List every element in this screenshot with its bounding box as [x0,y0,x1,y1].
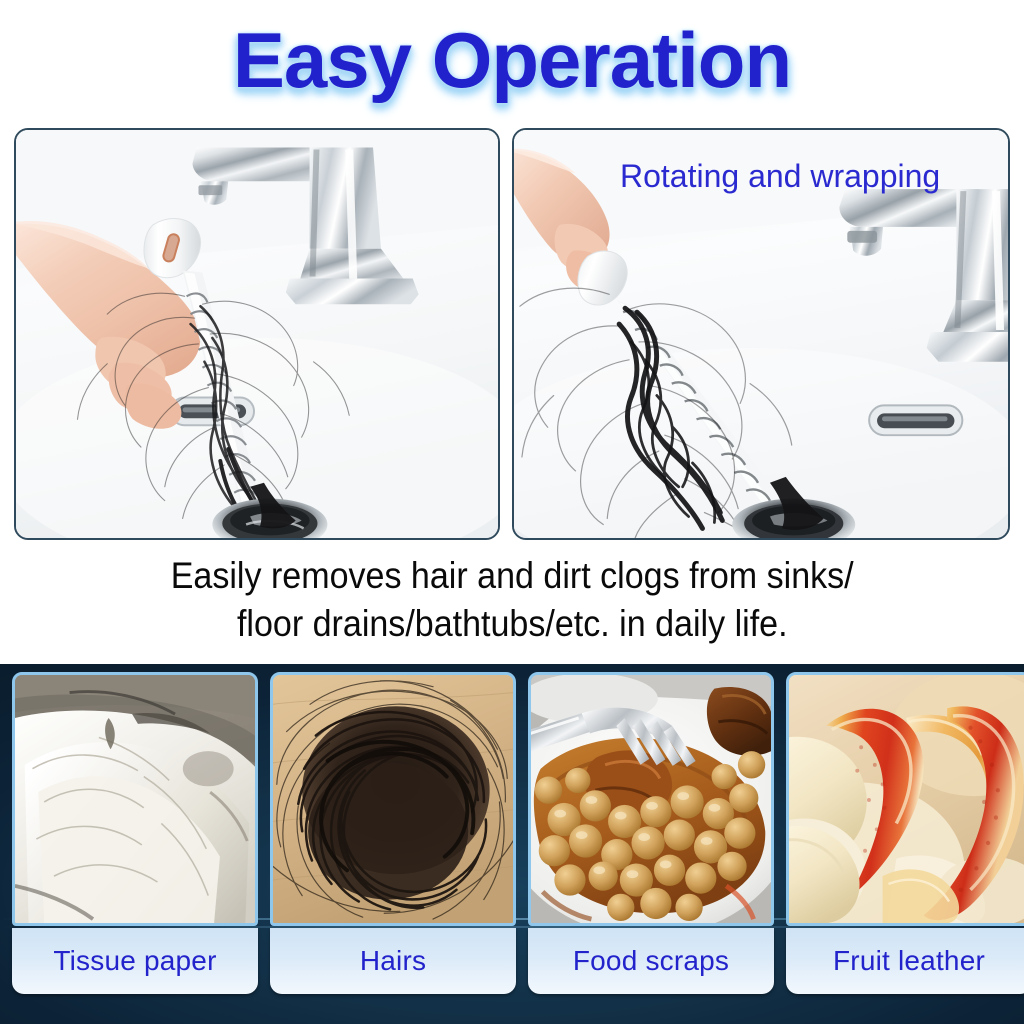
fruit-leather-photo [786,672,1024,926]
food-scraps-photo [528,672,774,926]
drain-pull-out-illustration [16,130,498,538]
description-line-1: Easily removes hair and dirt clogs from … [171,552,854,600]
tissue-paper-photo [12,672,258,926]
red-apple-peels-illustration [789,675,1024,923]
use-case-card-tissue-paper[interactable]: Tissue paper [12,672,258,996]
photo-panel-drain-pull-out [14,128,500,540]
description-line-2: floor drains/bathtubs/etc. in daily life… [237,600,788,648]
title-bar: Easy Operation [0,0,1024,120]
use-case-label-tissue-paper: Tissue paper [12,928,258,994]
use-case-card-food-scraps[interactable]: Food scraps [528,672,774,996]
photo-panel-row: Rotating and wrapping [0,128,1024,544]
product-description: Easily removes hair and dirt clogs from … [0,552,1024,662]
use-case-card-hairs[interactable]: Hairs [270,672,516,996]
plate-of-chickpeas-with-fork-illustration [531,675,771,923]
use-case-band: Tissue paper [0,664,1024,1024]
photo-panel-rotating-wrapping: Rotating and wrapping [512,128,1010,540]
use-case-label-hairs: Hairs [270,928,516,994]
use-case-card-fruit-leather[interactable]: Fruit leather [786,672,1024,996]
hairs-photo [270,672,516,926]
tangled-dark-hair-clump-illustration [273,675,513,923]
overflow-slot [869,405,962,435]
rotating-and-wrapping-label: Rotating and wrapping [620,158,940,195]
use-case-label-fruit-leather: Fruit leather [786,928,1024,994]
use-case-label-food-scraps: Food scraps [528,928,774,994]
crumpled-white-tissue-paper-illustration [15,675,255,923]
page-title: Easy Operation [233,15,791,106]
